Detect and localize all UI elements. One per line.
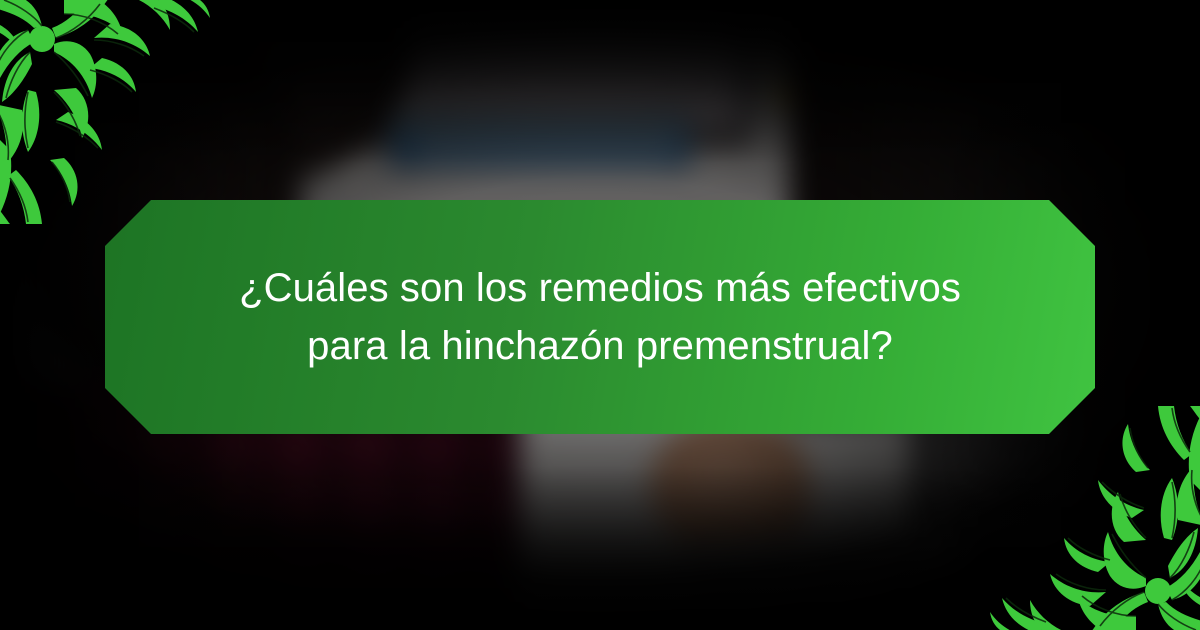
headline-banner: ¿Cuáles son los remedios más efectivos p… (105, 200, 1095, 434)
social-card: ¿Cuáles son los remedios más efectivos p… (0, 0, 1200, 630)
headline-text: ¿Cuáles son los remedios más efectivos p… (210, 259, 990, 375)
